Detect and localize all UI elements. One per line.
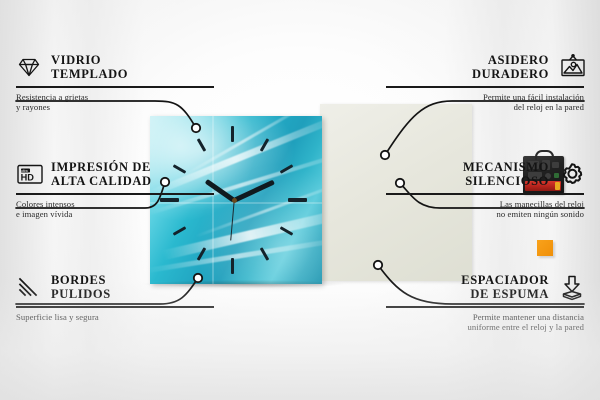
feature-divider xyxy=(386,306,584,308)
clock-center-hub xyxy=(232,198,237,203)
clock-second-hand xyxy=(230,201,235,241)
clock-tick-1 xyxy=(260,138,270,152)
feature-impresion-alta-calidad: ultra HD IMPRESIÓN DE ALTA CALIDAD Color… xyxy=(16,157,214,220)
ultra-hd-icon: ultra HD xyxy=(16,161,42,187)
clock-tick-11 xyxy=(197,138,207,152)
feature-title: ASIDERO DURADERO xyxy=(472,53,549,82)
clock-tick-4 xyxy=(280,226,294,236)
feature-title: IMPRESIÓN DE ALTA CALIDAD xyxy=(51,160,152,189)
feature-description: Colores intensos e imagen vívida xyxy=(16,199,214,220)
feature-divider xyxy=(16,306,214,308)
infographic-canvas: VIDRIO TEMPLADO Resistencia a grietas y … xyxy=(0,0,600,400)
feature-description: Permite una fácil instalación del reloj … xyxy=(386,92,584,113)
clock-tick-5 xyxy=(260,247,270,261)
clock-tick-6 xyxy=(231,258,234,274)
feature-description: Resistencia a grietas y rayones xyxy=(16,92,214,113)
feature-description: Superficie lisa y segura xyxy=(16,312,214,323)
feature-divider xyxy=(16,193,214,195)
clock-minute-hand xyxy=(233,180,275,203)
feature-title: BORDES PULIDOS xyxy=(51,273,111,302)
feature-bordes-pulidos: BORDES PULIDOS Superficie lisa y segura xyxy=(16,270,214,322)
foam-spacer-icon xyxy=(558,274,584,300)
feature-description: Permite mantener una distancia uniforme … xyxy=(386,312,584,333)
clock-tick-3 xyxy=(288,198,307,202)
feature-divider xyxy=(386,86,584,88)
polished-edges-icon xyxy=(16,274,42,300)
feature-asidero-duradero: ASIDERO DURADERO Permite una fácil insta… xyxy=(386,50,584,113)
feature-title: MECANISMO SILENCIOSO xyxy=(463,160,549,189)
feature-mecanismo-silencioso: MECANISMO SILENCIOSO Las manecillas del … xyxy=(386,157,584,220)
feature-title: ESPACIADOR DE ESPUMA xyxy=(461,273,549,302)
clock-tick-2 xyxy=(280,164,294,174)
feature-description: Las manecillas del reloj no emiten ningú… xyxy=(386,199,584,220)
clock-tick-12 xyxy=(231,126,234,142)
feature-divider xyxy=(386,193,584,195)
picture-hanger-icon xyxy=(558,54,584,80)
feature-title: VIDRIO TEMPLADO xyxy=(51,53,128,82)
feature-espaciador-de-espuma: ESPACIADOR DE ESPUMA Permite mantener un… xyxy=(386,270,584,333)
gear-icon xyxy=(558,161,584,187)
clock-tick-7 xyxy=(197,247,207,261)
feature-vidrio-templado: VIDRIO TEMPLADO Resistencia a grietas y … xyxy=(16,50,214,113)
clock-tick-8 xyxy=(173,226,187,236)
diamond-icon xyxy=(16,54,42,80)
foam-spacer-sample xyxy=(537,240,553,256)
svg-text:HD: HD xyxy=(21,173,35,183)
feature-divider xyxy=(16,86,214,88)
